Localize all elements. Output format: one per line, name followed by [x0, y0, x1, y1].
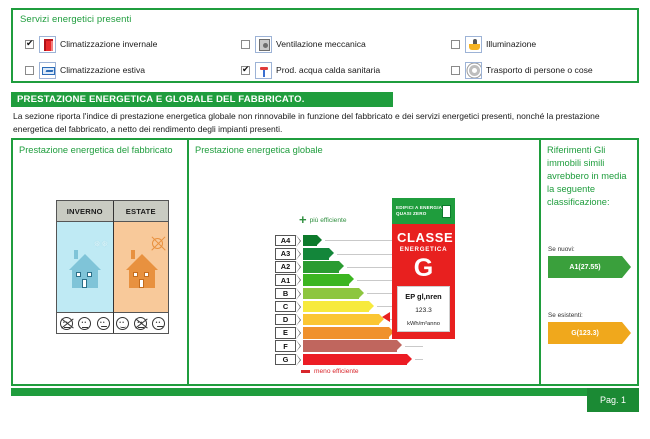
summer-label: ESTATE	[114, 201, 169, 222]
energy-class-tag: F	[275, 340, 296, 352]
house-icon	[69, 248, 101, 288]
plus-icon: +	[299, 216, 307, 224]
references-header: Riferimenti Gli immobili simili avrebber…	[541, 140, 637, 209]
service-item-illuminazione[interactable]: Illuminazione	[439, 31, 641, 57]
energy-class-bar-wrap	[303, 340, 405, 352]
services-title: Servizi energetici presenti	[13, 10, 637, 25]
energy-services-panel: Servizi energetici presenti Climatizzazi…	[11, 8, 639, 83]
reference-existing-chip: G(123.3)	[548, 322, 622, 344]
energy-class-bar-tip	[329, 248, 334, 258]
section-description: La sezione riporta l'indice di prestazio…	[13, 110, 639, 135]
classe-word: CLASSE	[397, 230, 450, 245]
rating-face-marked: ••	[60, 317, 73, 330]
summer-column: ESTATE •• •• ••	[113, 201, 169, 333]
energy-class-bar	[303, 288, 359, 300]
faucet-icon	[255, 62, 272, 79]
ep-index-value: 123.3	[400, 307, 447, 314]
service-item-acqua-calda-sanitaria[interactable]: Prod. acqua calda sanitaria	[229, 57, 439, 83]
energy-class-bar	[303, 248, 329, 260]
air-conditioner-icon	[39, 62, 56, 79]
energy-class-tag: B	[275, 288, 296, 300]
energy-class-row: E	[275, 326, 405, 339]
energy-class-row: A2	[275, 260, 405, 273]
dash-icon	[301, 370, 310, 373]
ep-index-unit: kWh/m²anno	[400, 321, 447, 327]
energy-class-badge: EDIFICI A ENERGIA QUASI ZERO CLASSE ENER…	[392, 198, 455, 339]
building-performance-header: Prestazione energetica del fabbricato	[13, 140, 187, 156]
service-item-trasporto-persone-cose[interactable]: Trasporto di persone o cose	[439, 57, 641, 83]
energy-class-row: F	[275, 340, 405, 353]
energy-class-tag: A4	[275, 235, 296, 247]
energy-class-bar	[303, 327, 389, 339]
energy-class-scale: A4A3A2A1BCDEFG	[275, 234, 405, 366]
winter-label: INVERNO	[57, 201, 113, 222]
service-checkbox-trasporto-persone-cose[interactable]	[451, 66, 460, 75]
lamp-icon	[465, 36, 482, 53]
summer-rating-faces: •• •• ••	[114, 312, 169, 333]
energy-class-tag: A2	[275, 261, 296, 273]
energy-class-bar	[303, 354, 407, 366]
footer-divider	[11, 388, 639, 396]
reference-new-label: Se nuovi:	[548, 246, 622, 253]
energy-class-row: A3	[275, 247, 405, 260]
class-pointer-arrow	[382, 312, 390, 322]
energy-class-bar-tip	[369, 301, 374, 311]
service-label: Ventilazione meccanica	[276, 39, 366, 49]
energy-class-row: G	[275, 353, 405, 366]
service-item-ventilazione-meccanica[interactable]: Ventilazione meccanica	[229, 31, 439, 57]
ep-index-box: EP gl,nren 123.3 kWh/m²anno	[397, 286, 450, 332]
performance-table: Prestazione energetica del fabbricato IN…	[11, 138, 639, 386]
gear-icon	[465, 62, 482, 79]
winter-illustration: ❅❅	[57, 222, 113, 312]
energy-class-bar	[303, 301, 369, 313]
winter-summer-diagram: INVERNO ❅❅ •• •• •• EST	[56, 200, 169, 334]
service-label: Climatizzazione estiva	[60, 65, 145, 75]
energy-class-bar-wrap	[303, 354, 407, 366]
services-grid: Climatizzazione invernale Ventilazione m…	[13, 31, 637, 83]
energy-class-bar-tip	[397, 340, 402, 350]
nzeb-checkbox[interactable]	[442, 205, 451, 218]
rating-face-sad: ••	[97, 317, 110, 330]
energy-class-bar-wrap	[303, 301, 405, 313]
energy-class-bar-wrap	[303, 261, 405, 273]
summer-illustration	[114, 222, 169, 312]
service-checkbox-climatizzazione-invernale[interactable]	[25, 40, 34, 49]
energy-class-bar-wrap	[303, 327, 405, 339]
energetica-word: ENERGETICA	[397, 246, 450, 253]
energy-class-tag: D	[275, 314, 296, 326]
rating-face-sad: ••	[152, 317, 165, 330]
energy-class-bar-tip	[407, 354, 412, 364]
service-checkbox-climatizzazione-estiva[interactable]	[25, 66, 34, 75]
energy-class-bar	[303, 274, 349, 286]
energy-class-row: B	[275, 287, 405, 300]
building-performance-column: Prestazione energetica del fabbricato IN…	[13, 140, 189, 384]
nzeb-label: EDIFICI A ENERGIA QUASI ZERO	[396, 205, 442, 217]
more-efficient-legend: + più efficiente	[299, 216, 347, 224]
less-efficient-label: meno efficiente	[314, 368, 359, 375]
reference-new-chip: A1(27.55)	[548, 256, 622, 278]
reference-existing-label: Se esistenti:	[548, 312, 622, 319]
service-item-climatizzazione-invernale[interactable]: Climatizzazione invernale	[13, 31, 229, 57]
service-item-climatizzazione-estiva[interactable]: Climatizzazione estiva	[13, 57, 229, 83]
energy-class-tag: C	[275, 301, 296, 313]
energy-class-row: A4	[275, 234, 405, 247]
ep-index-name: EP gl,nren	[400, 292, 447, 301]
winter-column: INVERNO ❅❅ •• •• ••	[57, 201, 113, 333]
energy-class-leader-line	[405, 346, 423, 347]
section-title: PRESTAZIONE ENERGETICA E GLOBALE DEL FAB…	[11, 92, 393, 107]
global-performance-header: Prestazione energetica globale	[189, 140, 539, 156]
fan-icon	[255, 36, 272, 53]
energy-class-bar	[303, 235, 317, 247]
service-checkbox-illuminazione[interactable]	[451, 40, 460, 49]
service-checkbox-ventilazione-meccanica[interactable]	[241, 40, 250, 49]
class-red-panel: CLASSE ENERGETICA G EP gl,nren 123.3 kWh…	[392, 224, 455, 339]
energy-class-bar-wrap	[303, 235, 405, 247]
references-column: Riferimenti Gli immobili simili avrebber…	[541, 140, 637, 384]
winter-rating-faces: •• •• ••	[57, 312, 113, 333]
energy-class-bar-wrap	[303, 248, 405, 260]
energy-class-tag: G	[275, 354, 296, 366]
energy-class-leader-line	[415, 359, 423, 360]
energy-class-tag: A3	[275, 248, 296, 260]
service-label: Prod. acqua calda sanitaria	[276, 65, 380, 75]
service-checkbox-acqua-calda-sanitaria[interactable]	[241, 66, 250, 75]
rating-face-marked: ••	[134, 317, 147, 330]
energy-class-bar-tip	[359, 288, 364, 298]
energy-class-bar-wrap	[303, 288, 405, 300]
rating-face-happy: ••	[116, 317, 129, 330]
house-icon	[126, 248, 158, 288]
radiator-icon	[39, 36, 56, 53]
energy-class-bar-tip	[339, 261, 344, 271]
energy-class-tag: A1	[275, 274, 296, 286]
reference-new-buildings: Se nuovi: A1(27.55)	[541, 246, 622, 278]
service-label: Trasporto di persone o cose	[486, 65, 593, 75]
energy-class-bar	[303, 314, 379, 326]
energy-class-row: A1	[275, 274, 405, 287]
energy-class-tag: E	[275, 327, 296, 339]
energy-class-bar-wrap	[303, 274, 405, 286]
less-efficient-legend: meno efficiente	[301, 368, 359, 375]
page-number-badge: Pag. 1	[587, 388, 639, 412]
ape-document-page: Servizi energetici presenti Climatizzazi…	[0, 0, 650, 439]
energy-class-bar	[303, 261, 339, 273]
service-label: Illuminazione	[486, 39, 536, 49]
rating-face-neutral: ••	[78, 317, 91, 330]
class-letter: G	[397, 254, 450, 282]
global-performance-column: Prestazione energetica globale + più eff…	[189, 140, 541, 384]
nzeb-banner: EDIFICI A ENERGIA QUASI ZERO	[392, 198, 455, 224]
service-label: Climatizzazione invernale	[60, 39, 157, 49]
more-efficient-label: più efficiente	[310, 217, 347, 224]
energy-class-bar-tip	[349, 274, 354, 284]
energy-class-bar-tip	[317, 235, 322, 245]
reference-existing-buildings: Se esistenti: G(123.3)	[541, 312, 622, 344]
energy-class-bar	[303, 340, 397, 352]
